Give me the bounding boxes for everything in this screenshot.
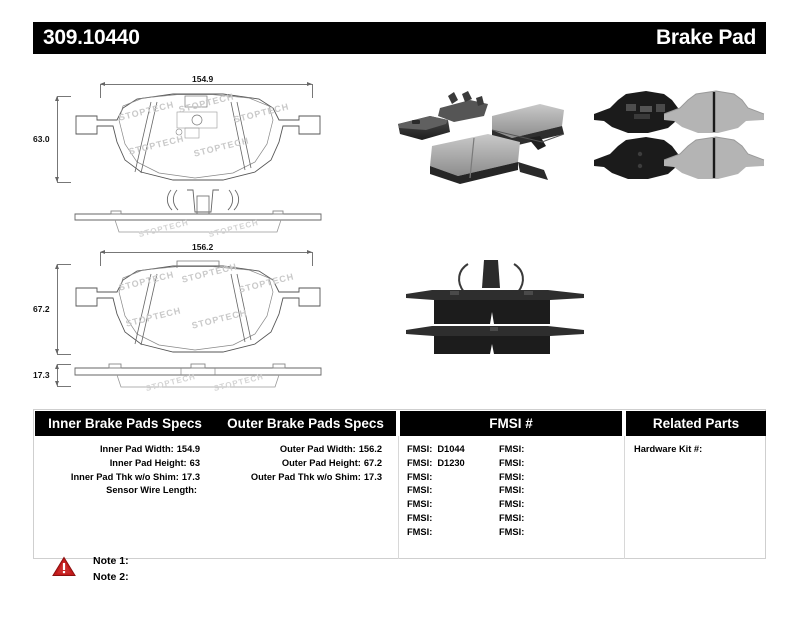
spec-row: Inner Pad Width:154.9 xyxy=(34,443,214,457)
fmsi-row: FMSI: xyxy=(499,457,529,471)
fmsi-label: FMSI: xyxy=(499,513,524,523)
fmsi-label: FMSI: xyxy=(499,472,524,482)
spec-label: Outer Pad Height: xyxy=(282,458,361,468)
technical-drawings: 154.9 63.0 xyxy=(33,62,383,392)
fmsi-label: FMSI: xyxy=(407,527,432,537)
outer-specs-column: Outer Pad Width:156.2 Outer Pad Height:6… xyxy=(215,443,396,484)
fmsi-row: FMSI: xyxy=(407,471,465,485)
header-fmsi: FMSI # xyxy=(400,411,622,436)
spec-value: 67.2 xyxy=(364,458,382,468)
spec-label: Inner Pad Thk w/o Shim: xyxy=(71,472,179,482)
spec-label: Outer Pad Width: xyxy=(280,444,356,454)
fmsi-column-a: FMSI:D1044 FMSI:D1230 FMSI: FMSI: FMSI: … xyxy=(407,443,465,540)
spec-value: 156.2 xyxy=(359,444,382,454)
spec-value: 63 xyxy=(190,458,200,468)
spec-row: Inner Pad Thk w/o Shim:17.3 xyxy=(34,471,214,485)
fmsi-label: FMSI: xyxy=(499,458,524,468)
spec-label: Sensor Wire Length: xyxy=(106,485,197,495)
spec-row: Outer Pad Height:67.2 xyxy=(215,457,396,471)
fmsi-row: FMSI: xyxy=(407,484,465,498)
spec-row: Outer Pad Width:156.2 xyxy=(215,443,396,457)
product-photo-angled-group xyxy=(392,86,572,191)
fmsi-label: FMSI: xyxy=(407,444,432,454)
note-line-2: Note 2: xyxy=(93,569,129,585)
related-parts-column: Hardware Kit #: xyxy=(634,443,702,457)
fmsi-label: FMSI: xyxy=(407,472,432,482)
fmsi-row: FMSI: xyxy=(499,443,529,457)
fmsi-label: FMSI: xyxy=(407,513,432,523)
product-photos xyxy=(392,86,770,386)
fmsi-row: FMSI: xyxy=(499,512,529,526)
fmsi-row: FMSI:D1044 xyxy=(407,443,465,457)
fmsi-row: FMSI: xyxy=(407,526,465,540)
fmsi-row: FMSI: xyxy=(407,512,465,526)
fmsi-label: FMSI: xyxy=(407,499,432,509)
outer-height-dim: 67.2 xyxy=(33,304,50,314)
inner-height-dim: 63.0 xyxy=(33,134,50,144)
fmsi-row: FMSI: xyxy=(407,498,465,512)
fmsi-label: FMSI: xyxy=(499,444,524,454)
spec-label: Inner Pad Height: xyxy=(110,458,187,468)
inner-pad-edge-view xyxy=(73,210,323,236)
spec-label: Inner Pad Width: xyxy=(100,444,174,454)
spec-row: Sensor Wire Length: xyxy=(34,484,214,498)
fmsi-value: D1230 xyxy=(437,458,464,468)
part-number: 309.10440 xyxy=(43,26,140,50)
product-type: Brake Pad xyxy=(656,26,756,50)
header-outer-specs: Outer Brake Pads Specs xyxy=(215,411,396,436)
header-bar: 309.10440 Brake Pad xyxy=(33,22,766,54)
specs-table: Inner Brake Pads Specs Outer Brake Pads … xyxy=(33,409,766,559)
spec-row: Outer Pad Thk w/o Shim:17.3 xyxy=(215,471,396,485)
specs-table-header-row: Inner Brake Pads Specs Outer Brake Pads … xyxy=(34,410,767,436)
fmsi-row: FMSI: xyxy=(499,471,529,485)
note-lines: Note 1: Note 2: xyxy=(93,553,129,585)
fmsi-label: FMSI: xyxy=(407,458,432,468)
fmsi-value: D1044 xyxy=(437,444,464,454)
fmsi-row: FMSI:D1230 xyxy=(407,457,465,471)
product-photo-edge-pair xyxy=(398,250,594,358)
inner-width-dim: 154.9 xyxy=(192,74,213,84)
fmsi-row: FMSI: xyxy=(499,526,529,540)
fmsi-label: FMSI: xyxy=(499,485,524,495)
outer-thickness-dim: 17.3 xyxy=(33,370,50,380)
fmsi-label: FMSI: xyxy=(499,527,524,537)
spec-value: 154.9 xyxy=(177,444,200,454)
outer-pad-edge-view xyxy=(73,362,323,390)
header-related-parts: Related Parts xyxy=(626,411,766,436)
inner-specs-column: Inner Pad Width:154.9 Inner Pad Height:6… xyxy=(34,443,214,498)
note-line-1: Note 1: xyxy=(93,553,129,569)
header-inner-specs: Inner Brake Pads Specs xyxy=(35,411,215,436)
spec-value: 17.3 xyxy=(364,472,382,482)
fmsi-label: FMSI: xyxy=(499,499,524,509)
fmsi-row: FMSI: xyxy=(499,484,529,498)
related-label: Hardware Kit #: xyxy=(634,444,702,454)
fmsi-column-b: FMSI: FMSI: FMSI: FMSI: FMSI: FMSI: FMSI… xyxy=(499,443,529,540)
fmsi-row: FMSI: xyxy=(499,498,529,512)
notes-section: Note 1: Note 2: xyxy=(52,553,352,593)
warning-triangle-icon xyxy=(52,556,76,577)
spec-sheet-page: 309.10440 Brake Pad 154.9 63.0 xyxy=(0,0,800,619)
spec-row: Inner Pad Height:63 xyxy=(34,457,214,471)
spec-label: Outer Pad Thk w/o Shim: xyxy=(251,472,361,482)
outer-pad-outline xyxy=(73,260,323,360)
inner-pad-outline xyxy=(73,90,323,190)
outer-width-dim: 156.2 xyxy=(192,242,213,252)
spec-value: 17.3 xyxy=(182,472,200,482)
product-photo-four-pads xyxy=(588,88,770,188)
related-parts-row: Hardware Kit #: xyxy=(634,443,702,457)
fmsi-label: FMSI: xyxy=(407,485,432,495)
